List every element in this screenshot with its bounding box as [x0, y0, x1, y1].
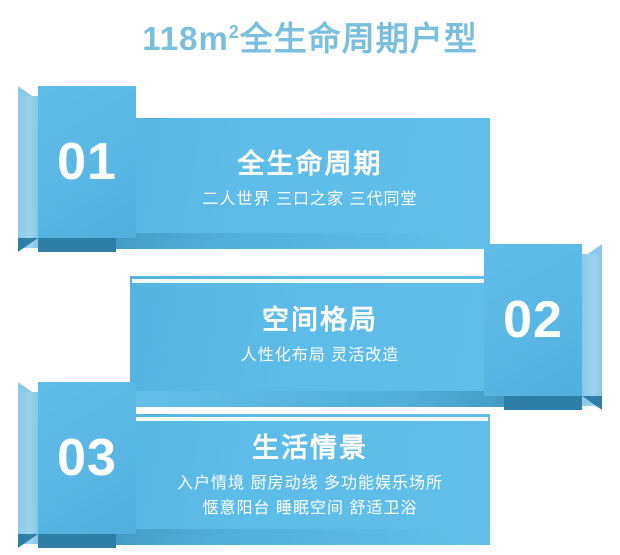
- card-03-bar-highlight: [108, 417, 488, 421]
- card-01-badge-shadow-strip: [38, 238, 116, 252]
- card-01-badge-shadow-wedge: [18, 238, 38, 252]
- card-01-heading: 全生命周期: [140, 146, 480, 182]
- card-02-text: 空间格局 人性化布局 灵活改造: [150, 302, 490, 368]
- card-03-subtitle-line-1: 入户情境 厨房动线 多功能娱乐场所: [140, 471, 480, 496]
- card-03-badge-side-face: [18, 392, 38, 544]
- card-02-badge-shadow-wedge: [582, 396, 602, 410]
- card-03-number: 03: [38, 382, 136, 534]
- card-03-badge-shadow-strip: [38, 534, 116, 548]
- card-03-text: 生活情景 入户情境 厨房动线 多功能娱乐场所 惬意阳台 睡眠空间 舒适卫浴: [140, 430, 480, 521]
- card-02-heading: 空间格局: [150, 302, 490, 338]
- card-01-badge-side-face: [18, 96, 38, 248]
- cards-container: 01 全生命周期 二人世界 三口之家 三代同堂 02 空间格局 人性化布局 灵活…: [0, 0, 620, 555]
- card-02-number: 02: [484, 244, 582, 396]
- card-03-subtitle-line-2: 惬意阳台 睡眠空间 舒适卫浴: [140, 496, 480, 521]
- card-01-subtitle-line-1: 二人世界 三口之家 三代同堂: [140, 187, 480, 212]
- card-01-text: 全生命周期 二人世界 三口之家 三代同堂: [140, 146, 480, 212]
- card-03-badge-shadow-wedge: [18, 534, 38, 548]
- card-03-badge: 03: [18, 378, 136, 540]
- card-02-badge-side-face: [582, 254, 602, 406]
- card-01-number: 01: [38, 86, 136, 238]
- card-02-badge: 02: [484, 240, 602, 402]
- card-02-subtitle-line-1: 人性化布局 灵活改造: [150, 343, 490, 368]
- card-01-badge: 01: [18, 82, 136, 244]
- card-02-bar-highlight: [132, 279, 512, 283]
- card-03-heading: 生活情景: [140, 430, 480, 466]
- card-01[interactable]: 01 全生命周期 二人世界 三口之家 三代同堂: [0, 82, 620, 252]
- card-02-badge-shadow-strip: [504, 396, 582, 410]
